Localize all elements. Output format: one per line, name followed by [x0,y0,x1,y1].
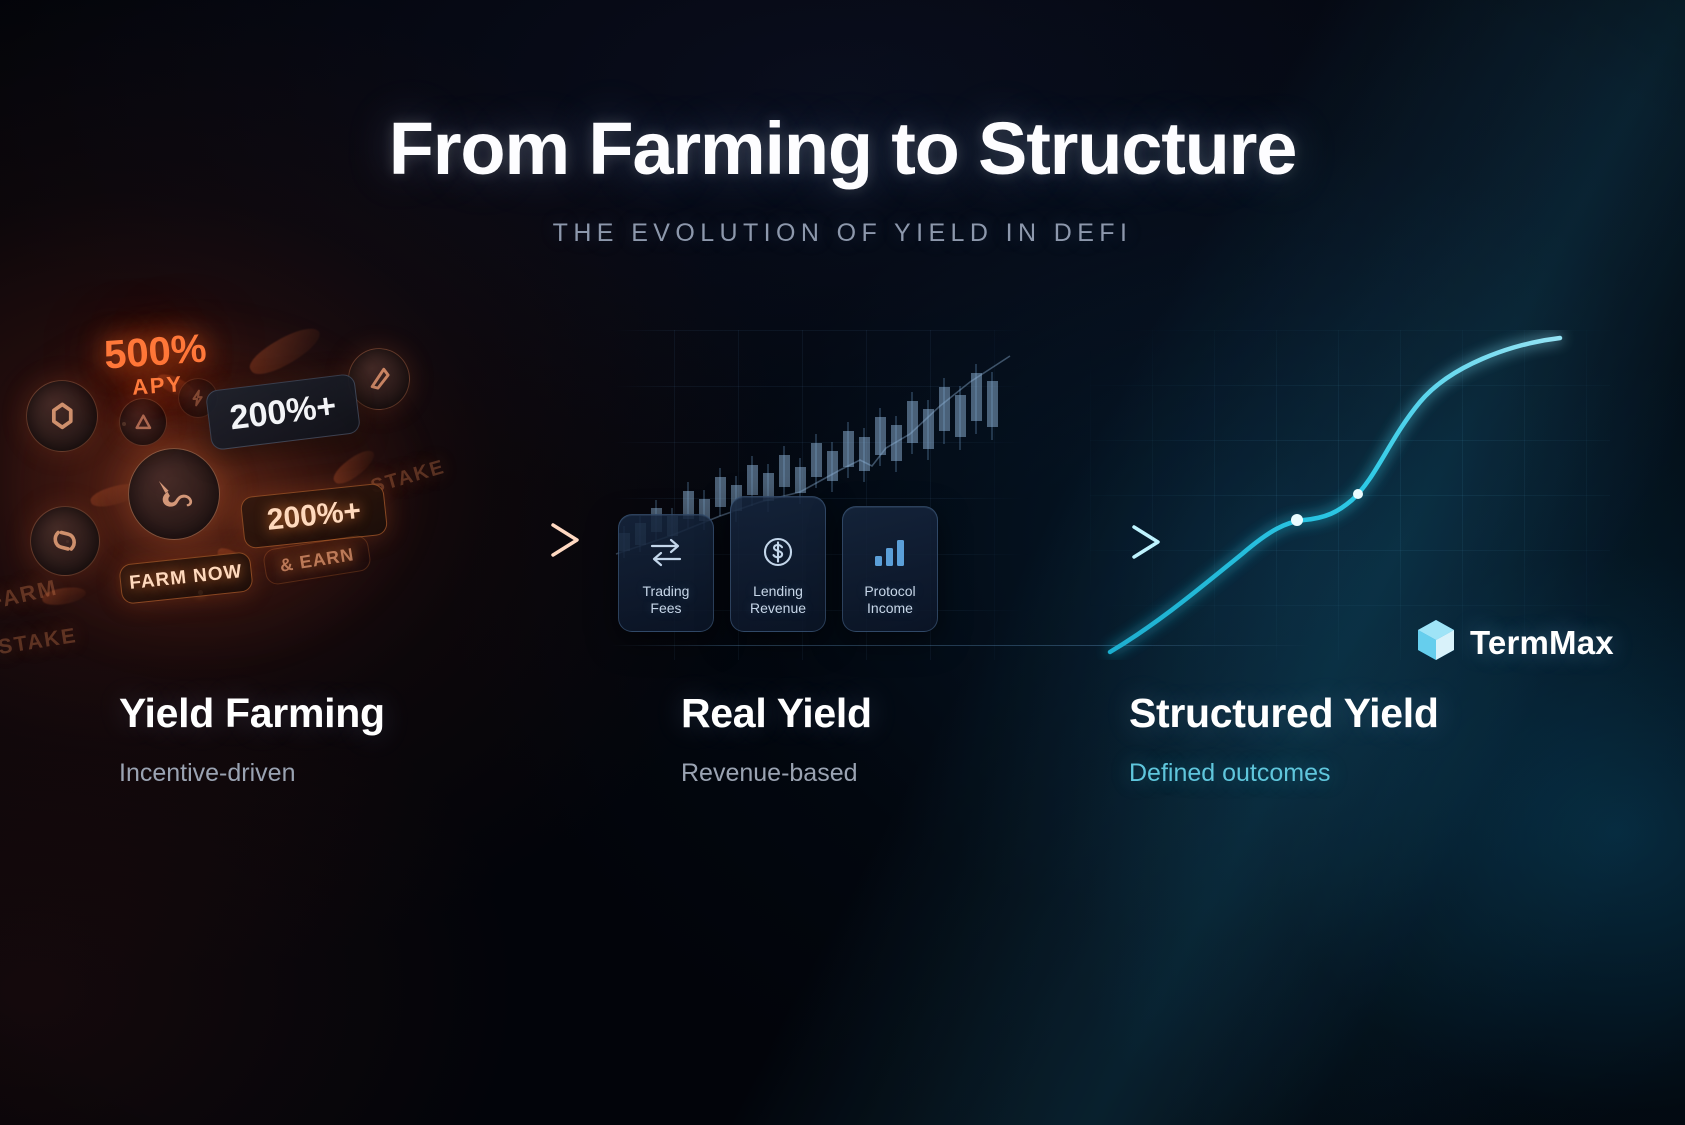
card-trading-fees[interactable]: TradingFees [618,514,714,632]
caption-structured-yield: Structured Yield Defined outcomes [1129,690,1439,788]
pancake-token-icon [26,380,98,452]
structured-yield-panel [1090,330,1610,660]
curve-node [1353,489,1363,499]
brand-lockup: TermMax [1415,618,1614,667]
structured-yield-curve [1090,330,1610,660]
curve-node [1291,514,1303,526]
card-label-trading-fees: TradingFees [643,583,690,617]
brand-name: TermMax [1470,624,1614,662]
caption-yield-farming: Yield Farming Incentive-driven [119,690,385,788]
caption-sub-structured-yield: Defined outcomes [1129,759,1439,788]
caption-sub-real-yield: Revenue-based [681,759,872,788]
caption-title-structured-yield: Structured Yield [1129,690,1439,737]
arrow-farming-to-real [425,520,590,560]
dollar-circle-icon [760,531,796,573]
page-title: From Farming to Structure [0,106,1685,191]
caption-sub-yield-farming: Incentive-driven [119,759,385,788]
unicorn-token-icon [128,448,220,540]
yield-farming-cluster: FARM STAKE STAKE STAKE [0,290,490,690]
apy-headline: 500% APY [103,329,210,401]
caption-title-real-yield: Real Yield [681,690,872,737]
real-yield-card-row: TradingFees LendingRevenue [618,496,938,632]
triangle-token-icon [119,398,167,446]
card-label-lending-revenue: LendingRevenue [750,583,806,617]
apy-value: 500% [103,329,208,376]
bar-chart-icon [872,531,908,573]
page-subtitle: THE EVOLUTION OF YIELD IN DEFI [0,219,1685,248]
termmax-cube-icon [1415,618,1457,667]
card-protocol-income[interactable]: ProtocolIncome [842,506,938,632]
card-lending-revenue[interactable]: LendingRevenue [730,496,826,632]
sushi-token-icon [30,506,100,576]
swap-arrows-icon [647,531,685,573]
card-label-protocol-income: ProtocolIncome [864,583,915,617]
real-yield-panel: TradingFees LendingRevenue [610,330,1030,660]
caption-title-yield-farming: Yield Farming [119,690,385,737]
header: From Farming to Structure THE EVOLUTION … [0,106,1685,248]
caption-real-yield: Real Yield Revenue-based [681,690,872,788]
